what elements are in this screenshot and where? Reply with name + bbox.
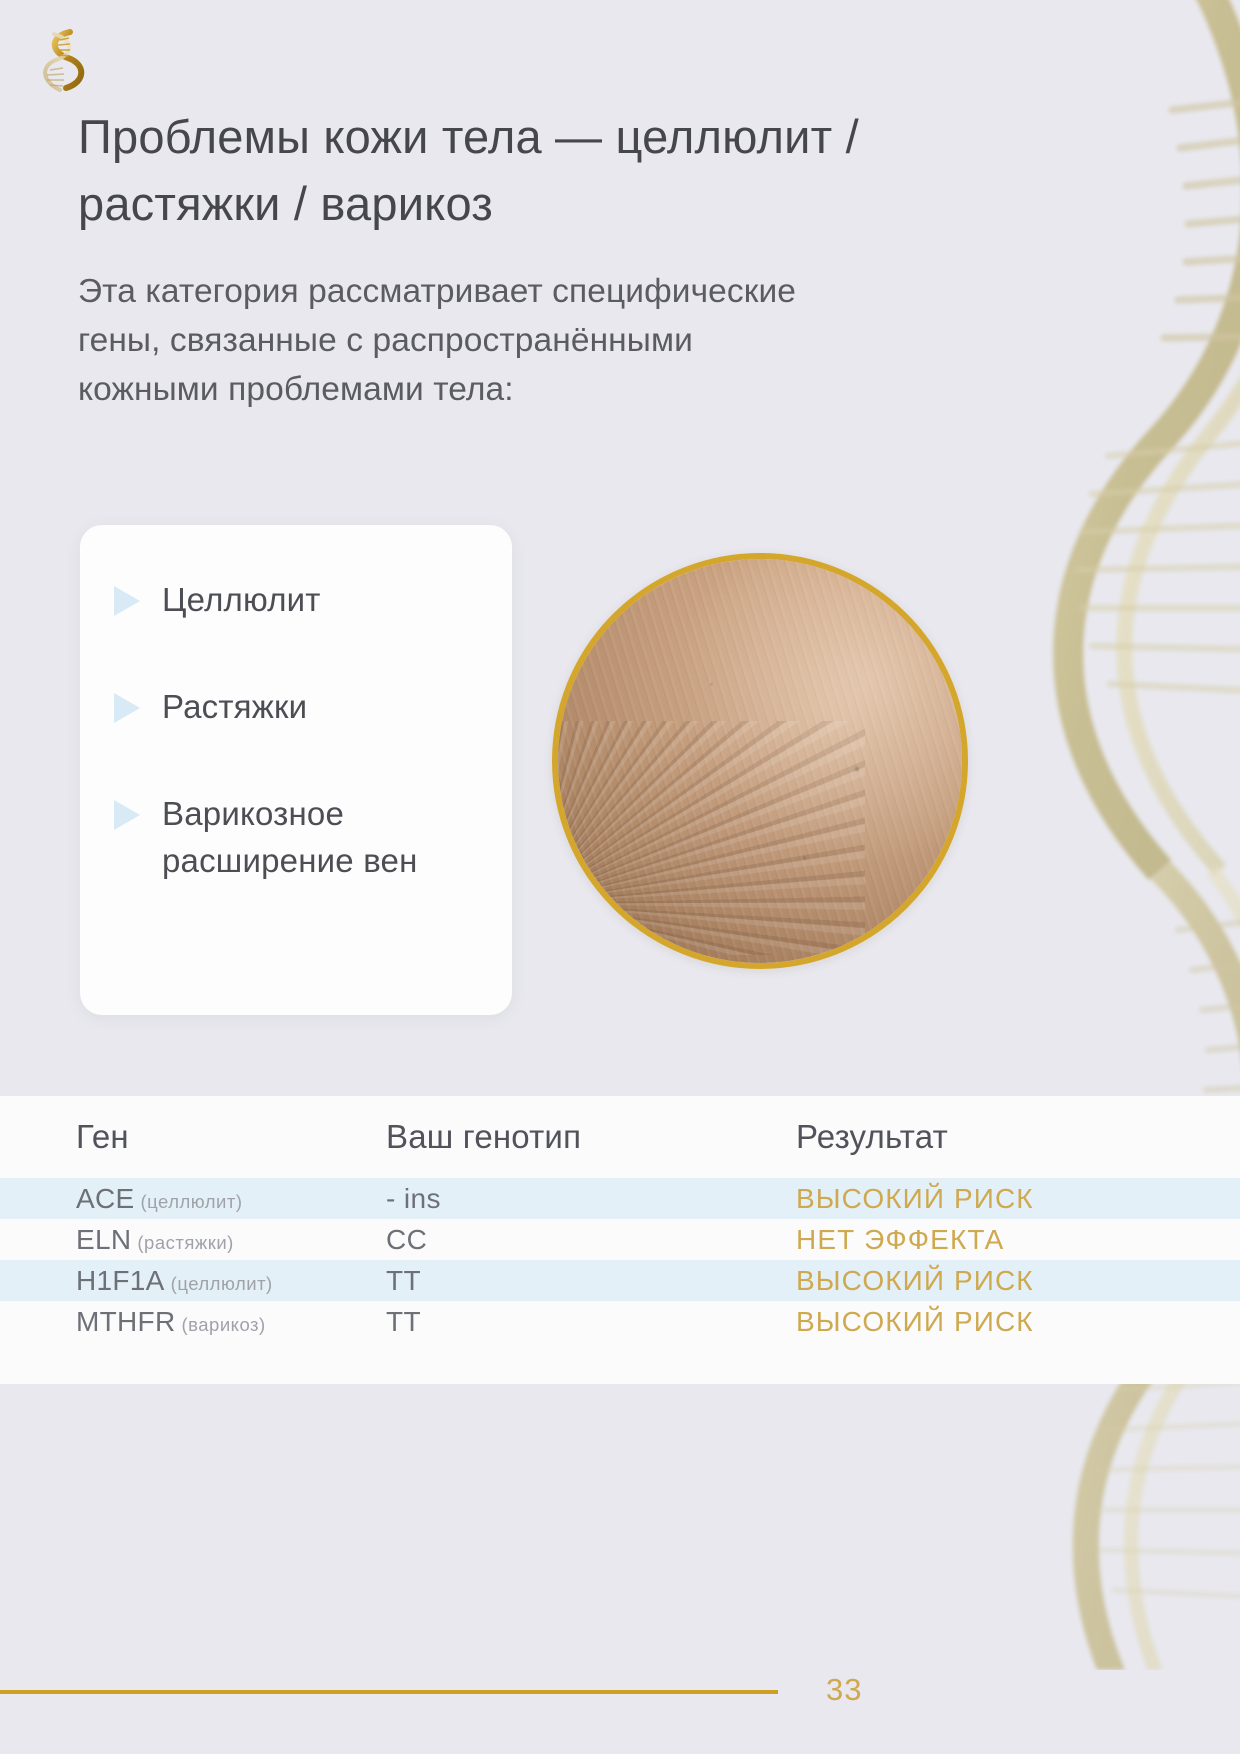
conditions-list: Целлюлит Растяжки Варикозное расширение … — [108, 577, 494, 884]
list-item: Растяжки — [108, 684, 494, 731]
list-item: Варикозное расширение вен — [108, 791, 494, 885]
list-item-label: Варикозное расширение вен — [162, 791, 494, 885]
column-header-gene: Ген — [76, 1118, 386, 1156]
cell-result: ВЫСОКИЙ РИСК — [796, 1183, 1240, 1215]
list-item-label: Растяжки — [162, 684, 307, 731]
gene-note: (варикоз) — [181, 1314, 265, 1335]
cell-result: НЕТ ЭФФЕКТА — [796, 1224, 1240, 1256]
table-header-row: Ген Ваш генотип Результат — [0, 1096, 1240, 1178]
column-header-result: Результат — [796, 1118, 1240, 1156]
triangle-right-icon — [114, 586, 140, 616]
dna-helix-logo — [36, 26, 88, 98]
cell-gene: H1F1A(целлюлит) — [76, 1265, 386, 1297]
table-row: MTHFR(варикоз) TT ВЫСОКИЙ РИСК — [0, 1301, 1240, 1342]
cellulite-skin-photo — [552, 553, 968, 969]
gene-note: (целлюлит) — [171, 1273, 273, 1294]
triangle-right-icon — [114, 800, 140, 830]
table-row: H1F1A(целлюлит) TT ВЫСОКИЙ РИСК — [0, 1260, 1240, 1301]
photo-shading — [558, 559, 962, 963]
genotype-table: Ген Ваш генотип Результат ACE(целлюлит) … — [0, 1096, 1240, 1384]
list-item-label: Целлюлит — [162, 577, 321, 624]
cell-genotype: TT — [386, 1306, 796, 1338]
table-bottom-spacer — [0, 1342, 1240, 1384]
page-title: Проблемы кожи тела — целлюлит / растяжки… — [78, 104, 958, 237]
gene-name: ELN — [76, 1224, 131, 1255]
cell-genotype: CC — [386, 1224, 796, 1256]
cell-genotype: - ins — [386, 1183, 796, 1215]
gene-name: H1F1A — [76, 1265, 165, 1296]
cell-genotype: TT — [386, 1265, 796, 1297]
cell-gene: ELN(растяжки) — [76, 1224, 386, 1256]
gene-note: (растяжки) — [137, 1232, 233, 1253]
list-item: Целлюлит — [108, 577, 494, 624]
page-footer: 33 — [0, 1672, 1240, 1712]
gene-name: ACE — [76, 1183, 134, 1214]
column-header-genotype: Ваш генотип — [386, 1118, 796, 1156]
gene-note: (целлюлит) — [140, 1191, 242, 1212]
page-number: 33 — [826, 1672, 862, 1708]
table-row: ELN(растяжки) CC НЕТ ЭФФЕКТА — [0, 1219, 1240, 1260]
gene-name: MTHFR — [76, 1306, 175, 1337]
table-row: ACE(целлюлит) - ins ВЫСОКИЙ РИСК — [0, 1178, 1240, 1219]
cell-gene: MTHFR(варикоз) — [76, 1306, 386, 1338]
cell-result: ВЫСОКИЙ РИСК — [796, 1306, 1240, 1338]
intro-paragraph: Эта категория рассматривает специфически… — [78, 268, 808, 415]
conditions-card: Целлюлит Растяжки Варикозное расширение … — [80, 525, 512, 1015]
footer-rule — [0, 1690, 778, 1694]
triangle-right-icon — [114, 693, 140, 723]
cell-result: ВЫСОКИЙ РИСК — [796, 1265, 1240, 1297]
cell-gene: ACE(целлюлит) — [76, 1183, 386, 1215]
